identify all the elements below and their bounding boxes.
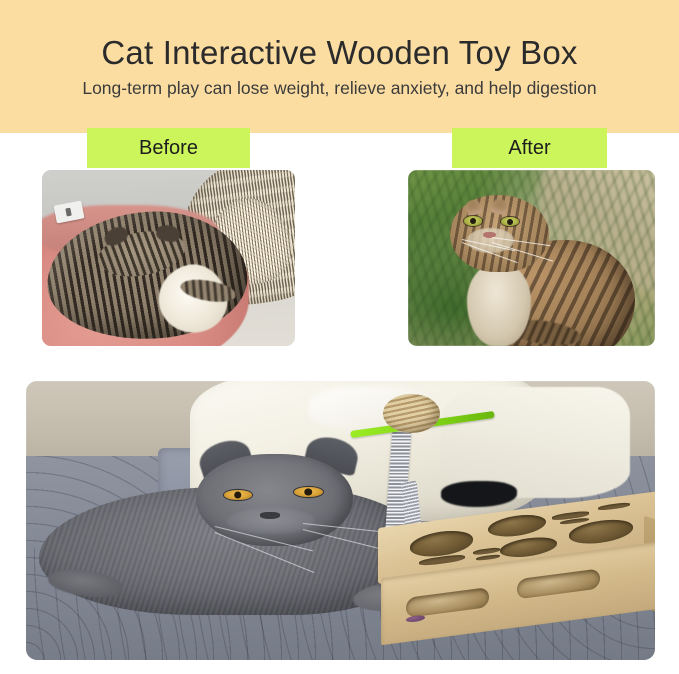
toy-box-hole [488, 512, 546, 540]
product-infographic: Cat Interactive Wooden Toy Box Long-term… [0, 0, 679, 674]
sisal-ball [383, 394, 440, 433]
cat-eye-left [464, 216, 483, 226]
toy-box-front-opening [406, 586, 489, 617]
main-product-photo [26, 381, 655, 660]
before-label: Before [87, 128, 250, 168]
pupil [234, 491, 242, 498]
cat-eye-left [224, 490, 253, 500]
before-photo [42, 170, 295, 346]
after-photo [408, 170, 655, 346]
header-banner: Cat Interactive Wooden Toy Box Long-term… [0, 0, 679, 133]
toy-box-front-opening [517, 568, 600, 599]
cat-ear-right [491, 198, 509, 216]
after-scene [408, 170, 655, 346]
before-scene [42, 170, 295, 346]
toy-box-slot [477, 554, 500, 561]
page-subtitle: Long-term play can lose weight, relieve … [82, 78, 596, 98]
wooden-toy-box [378, 509, 655, 649]
pupil [507, 219, 513, 225]
dark-fabric [441, 481, 516, 506]
before-label-text: Before [139, 137, 198, 160]
cat-nose [260, 512, 280, 518]
page-title: Cat Interactive Wooden Toy Box [101, 35, 577, 72]
main-scene [26, 381, 655, 660]
pupil [470, 218, 476, 224]
pupil [305, 489, 313, 496]
after-label: After [452, 128, 607, 168]
cat-chest [467, 262, 531, 346]
cat-eye-right [294, 487, 323, 497]
toy-box-slot [598, 502, 630, 511]
after-label-text: After [508, 137, 550, 160]
